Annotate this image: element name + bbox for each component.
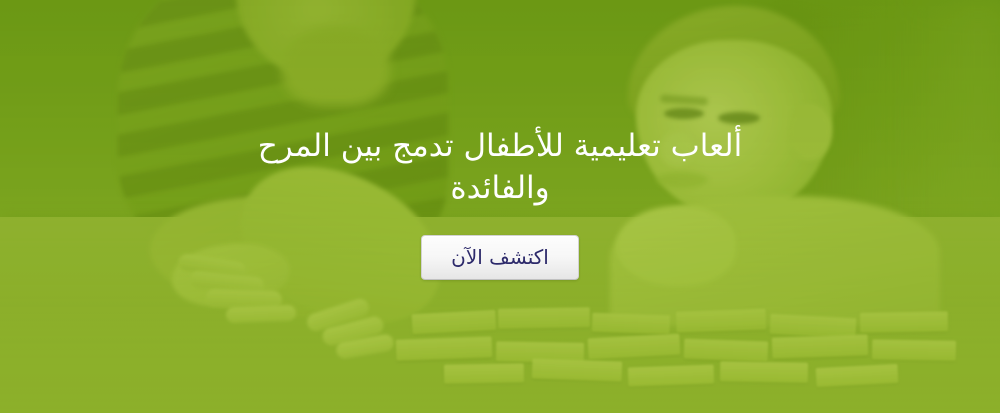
hero-cta-container: اكتشف الآن xyxy=(421,235,579,280)
discover-now-button[interactable]: اكتشف الآن xyxy=(421,235,579,280)
hero-headline: ألعاب تعليمية للأطفال تدمج بين المرح وال… xyxy=(230,126,770,208)
hero-banner: ألعاب تعليمية للأطفال تدمج بين المرح وال… xyxy=(0,0,1000,413)
hero-content: ألعاب تعليمية للأطفال تدمج بين المرح وال… xyxy=(0,0,1000,413)
